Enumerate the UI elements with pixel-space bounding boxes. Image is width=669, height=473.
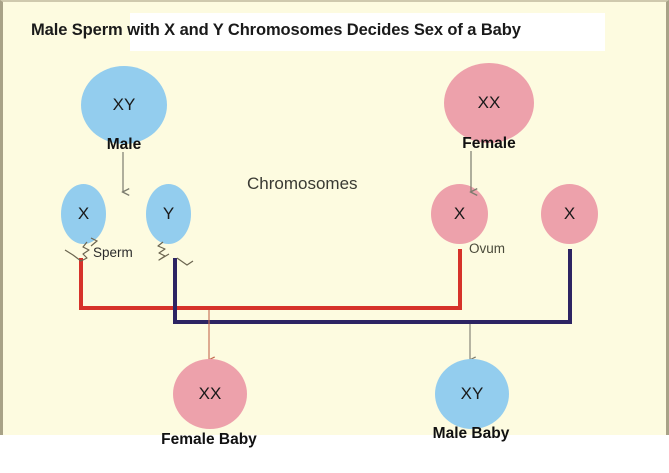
bottom-strip xyxy=(0,435,669,473)
male-baby-chromosomes: XY xyxy=(461,384,484,404)
navy-line-from-sperm-y xyxy=(173,258,177,324)
diagram-canvas: Male Sperm with X and Y Chromosomes Deci… xyxy=(0,0,669,435)
chromosomes-section-label: Chromosomes xyxy=(247,174,358,194)
ovum-right-chromosome: X xyxy=(564,204,575,224)
navy-line-horizontal xyxy=(173,320,572,324)
male-parent-cell: XY xyxy=(81,66,167,144)
female-baby-label: Female Baby xyxy=(150,431,268,449)
female-parent-cell: XX xyxy=(444,63,534,143)
red-line-to-ovum-left xyxy=(458,249,462,310)
male-parent-label: Male xyxy=(81,136,167,154)
navy-line-to-ovum-right xyxy=(568,249,572,324)
sperm-y-chromosome: Y xyxy=(163,204,174,224)
male-parent-chromosomes: XY xyxy=(113,95,136,115)
sperm-x-tail-icon xyxy=(65,242,89,261)
female-parent-chromosomes: XX xyxy=(478,93,501,113)
female-baby-cell: XX xyxy=(173,359,247,429)
red-line-from-sperm-x xyxy=(79,258,83,310)
ovum-left-cell: X xyxy=(431,184,488,244)
male-baby-label: Male Baby xyxy=(412,425,530,443)
female-parent-label: Female xyxy=(444,135,534,153)
sperm-y-tail-icon xyxy=(158,242,169,260)
ovum-label: Ovum xyxy=(469,241,505,256)
ovum-left-chromosome: X xyxy=(454,204,465,224)
ovum-right-cell: X xyxy=(541,184,598,244)
sperm-x-chromosome: X xyxy=(78,204,89,224)
page-title: Male Sperm with X and Y Chromosomes Deci… xyxy=(31,21,651,40)
male-baby-cell: XY xyxy=(435,359,509,429)
sperm-x-cell: X xyxy=(61,184,106,244)
red-line-horizontal xyxy=(79,306,462,310)
sperm-y-tail-tip-icon xyxy=(177,258,193,265)
female-baby-chromosomes: XX xyxy=(199,384,222,404)
sperm-y-cell: Y xyxy=(146,184,191,244)
sperm-label: Sperm xyxy=(93,245,133,260)
